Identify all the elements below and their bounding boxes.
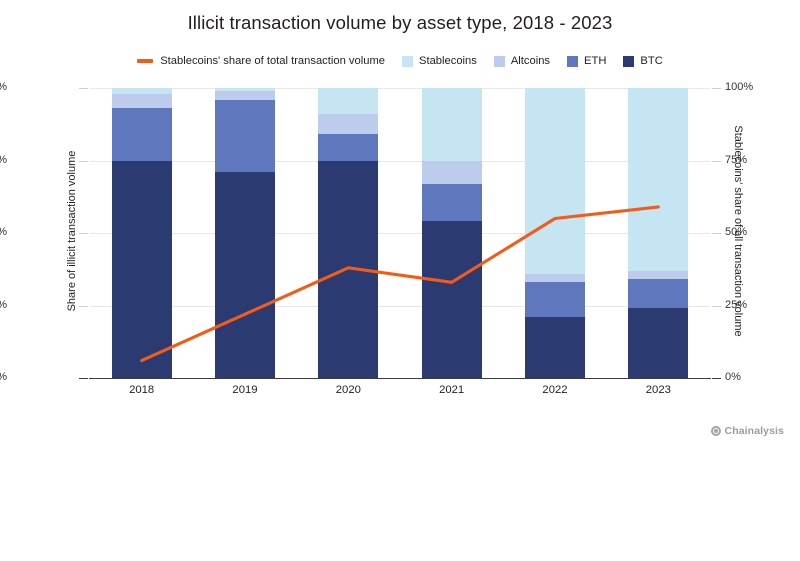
x-axis-label: 2021	[407, 384, 497, 396]
x-axis-line	[89, 378, 711, 379]
y-tick-right	[712, 88, 721, 89]
y-tick-right	[712, 306, 721, 307]
y-tick-right	[712, 378, 721, 379]
y-tick-left	[79, 88, 88, 89]
legend-swatch-icon	[494, 56, 505, 67]
legend-swatch-altcoins[interactable]: Altcoins	[494, 55, 550, 67]
chart-title: Illicit transaction volume by asset type…	[0, 12, 800, 34]
chart-legend: Stablecoins' share of total transaction …	[0, 55, 800, 67]
legend-item-label: Stablecoins	[419, 55, 477, 67]
y-tick-label-left: 100%	[0, 81, 7, 93]
x-axis-label: 2018	[97, 384, 187, 396]
legend-swatch-eth[interactable]: ETH	[567, 55, 606, 67]
x-axis-label: 2020	[303, 384, 393, 396]
y-tick-left	[79, 161, 88, 162]
legend-swatch-icon	[623, 56, 634, 67]
watermark-label: Chainalysis	[725, 425, 784, 437]
legend-swatch-stablecoins[interactable]: Stablecoins	[402, 55, 477, 67]
y-tick-left	[79, 233, 88, 234]
chart-canvas: Illicit transaction volume by asset type…	[0, 0, 800, 449]
y-tick-label-left: 50%	[0, 226, 7, 238]
plot-area: 0%25%50%75%100% 0%25%50%75%100% 20182019…	[90, 88, 710, 378]
y-axis-title-left: Share of illicit transaction volume	[66, 0, 78, 561]
legend-swatch-icon	[567, 56, 578, 67]
legend-item-label: BTC	[640, 55, 662, 67]
y-tick-label-left: 75%	[0, 154, 7, 166]
stablecoin-share-line	[142, 207, 659, 361]
y-tick-label-left: 0%	[0, 371, 7, 383]
x-axis-label: 2023	[613, 384, 703, 396]
y-tick-label-left: 25%	[0, 299, 7, 311]
legend-swatch-btc[interactable]: BTC	[623, 55, 662, 67]
legend-item-label: Stablecoins' share of total transaction …	[160, 55, 385, 67]
legend-line-stablecoin-share[interactable]: Stablecoins' share of total transaction …	[137, 55, 385, 67]
y-tick-left	[79, 306, 88, 307]
legend-line-icon	[137, 59, 153, 62]
y-axis-title-right: Stablecoins' share of all transaction vo…	[732, 0, 744, 561]
line-series-layer	[90, 88, 710, 378]
chainalysis-watermark: Chainalysis	[711, 425, 784, 437]
legend-item-label: ETH	[584, 55, 606, 67]
legend-item-label: Altcoins	[511, 55, 550, 67]
y-tick-left	[79, 378, 88, 379]
y-tick-right	[712, 233, 721, 234]
x-axis-label: 2022	[510, 384, 600, 396]
chainalysis-logo-icon	[711, 426, 721, 436]
y-tick-right	[712, 161, 721, 162]
legend-swatch-icon	[402, 56, 413, 67]
x-axis-label: 2019	[200, 384, 290, 396]
